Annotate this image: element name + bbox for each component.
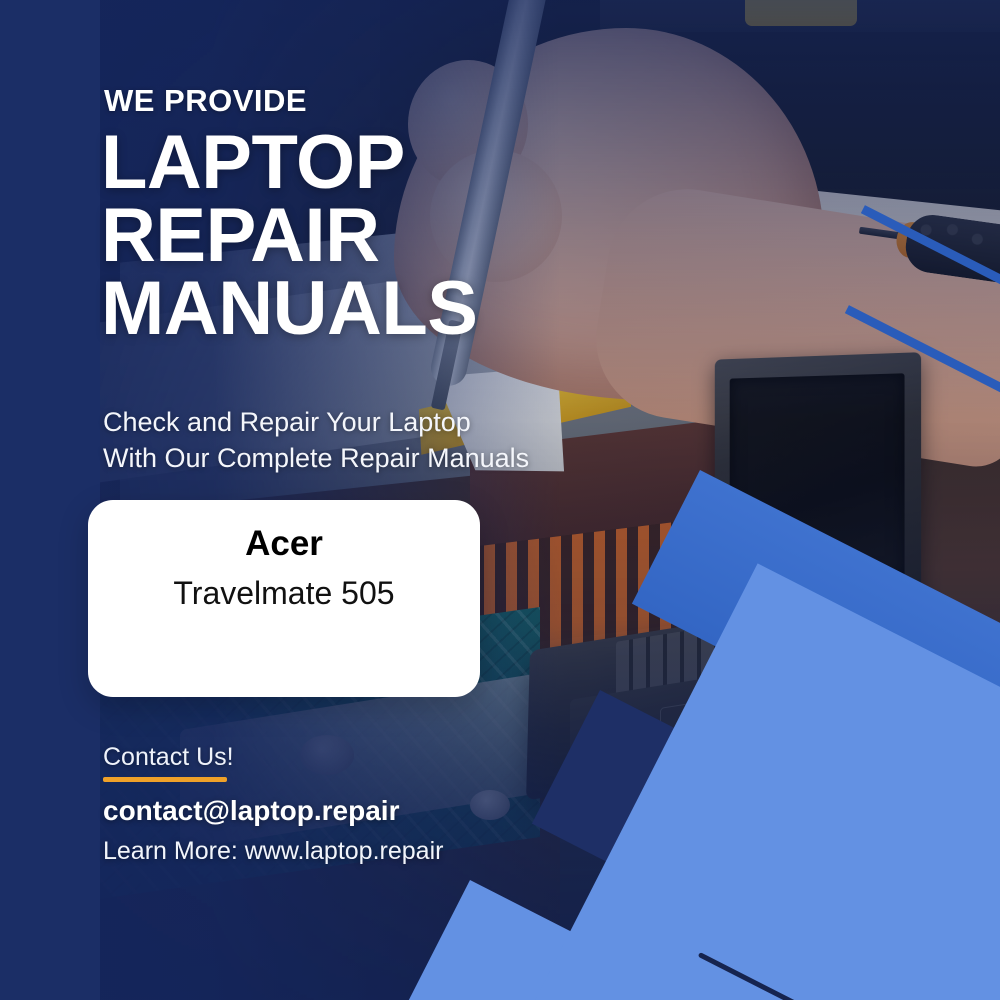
- headline-line-1: LAPTOP: [101, 126, 661, 199]
- contact-underline: [103, 777, 227, 782]
- model-name: Travelmate 505: [88, 570, 480, 616]
- subtitle-line-2: With Our Complete Repair Manuals: [103, 440, 529, 476]
- model-brand: Acer: [88, 522, 480, 566]
- subtitle: Check and Repair Your Laptop With Our Co…: [103, 404, 529, 476]
- contact-email[interactable]: contact@laptop.repair: [103, 795, 443, 827]
- promo-poster: WE PROVIDE LAPTOP REPAIR MANUALS Check a…: [0, 0, 1000, 1000]
- contact-label: Contact Us!: [103, 742, 443, 772]
- model-card: Acer Travelmate 505: [88, 500, 480, 697]
- subtitle-line-1: Check and Repair Your Laptop: [103, 404, 529, 440]
- headline-line-3: MANUALS: [101, 272, 661, 345]
- headline-line-2: REPAIR: [101, 199, 661, 272]
- page-title: LAPTOP REPAIR MANUALS: [101, 126, 661, 345]
- eyebrow-text: WE PROVIDE: [104, 83, 307, 119]
- poster-content: WE PROVIDE LAPTOP REPAIR MANUALS Check a…: [0, 0, 1000, 1000]
- contact-block: Contact Us! contact@laptop.repair Learn …: [103, 742, 443, 866]
- contact-learn-more[interactable]: Learn More: www.laptop.repair: [103, 837, 443, 866]
